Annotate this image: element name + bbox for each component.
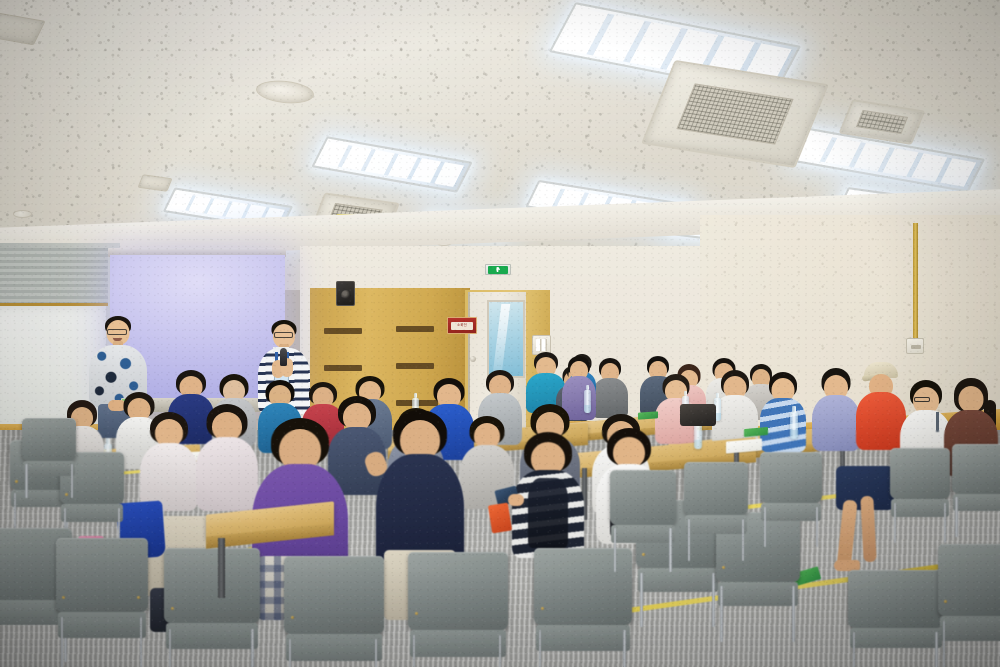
water-bottle	[694, 422, 702, 449]
chair-leg	[169, 629, 171, 667]
chair-leg	[669, 528, 671, 571]
stacking-chair[interactable]	[534, 548, 632, 667]
chair-leg	[894, 503, 896, 543]
chair-back	[610, 470, 676, 525]
chair-seat	[953, 494, 1000, 511]
stacking-chair[interactable]	[22, 418, 76, 492]
torso	[760, 398, 806, 452]
audience-member	[760, 372, 806, 450]
fire-equipment-sign-label: 소화전	[451, 322, 473, 330]
chair-back	[760, 452, 822, 503]
stacking-chair[interactable]	[408, 552, 508, 667]
chair-back	[164, 548, 260, 623]
wood-slat	[324, 365, 362, 371]
chair-leg	[712, 573, 714, 627]
chair-back	[848, 570, 944, 628]
water-bottle	[584, 390, 591, 413]
chair-leg	[955, 497, 957, 537]
chair-back	[284, 556, 384, 634]
chair-leg	[764, 507, 766, 547]
lanyard	[936, 412, 939, 432]
chair-seat	[286, 634, 382, 661]
chair-back	[56, 538, 148, 612]
chair-seat	[940, 616, 1000, 641]
stacking-chair[interactable]	[848, 570, 944, 667]
fire-equipment-sign: 소화전	[447, 317, 477, 334]
window-blind	[0, 248, 108, 306]
ac-grille	[676, 84, 793, 144]
exit-sign-panel	[488, 266, 508, 274]
chair-seat	[761, 503, 821, 521]
torso	[812, 395, 860, 451]
chair-rivet	[137, 596, 140, 599]
handbag	[680, 404, 716, 426]
door-handle[interactable]	[470, 356, 476, 362]
chair-seat	[685, 515, 746, 533]
chair-leg	[61, 617, 63, 667]
torso	[592, 378, 628, 418]
audience-member-with-device	[512, 432, 584, 554]
eyeglasses-icon	[107, 329, 127, 335]
chair-leg	[614, 528, 616, 571]
chair-seat	[536, 625, 630, 651]
torso	[856, 392, 906, 450]
audience-member-with-cap	[856, 362, 906, 446]
exit-sign	[485, 264, 511, 275]
chair-seat	[58, 612, 146, 638]
chair-seat	[891, 499, 949, 517]
chair-leg	[742, 519, 744, 561]
chair-leg	[816, 507, 818, 547]
chair-seat	[718, 582, 799, 606]
stacking-chair[interactable]	[684, 462, 748, 554]
audience-member	[196, 404, 258, 508]
chair-back	[408, 552, 508, 630]
ac-grille	[856, 110, 909, 134]
chair-leg	[251, 629, 253, 667]
wood-slat	[396, 363, 434, 369]
wood-slat	[396, 326, 434, 332]
chair-seat	[61, 504, 122, 522]
chair-leg	[14, 493, 16, 533]
chair-back	[684, 462, 748, 515]
chair-leg	[792, 586, 794, 641]
chair-back	[952, 444, 1000, 494]
chair-seat	[23, 461, 75, 476]
stacking-chair[interactable]	[890, 448, 950, 536]
chair-leg	[623, 630, 625, 667]
chair-leg	[640, 573, 642, 627]
microphone-icon	[280, 348, 287, 366]
chair-leg	[688, 519, 690, 561]
chair-seat	[410, 630, 506, 657]
ceiling-sensor	[13, 210, 32, 218]
chair-seat	[166, 623, 258, 649]
chair-back	[890, 448, 950, 499]
chair-leg	[539, 630, 541, 667]
chair-back	[22, 418, 76, 461]
stacking-chair[interactable]	[610, 470, 676, 564]
eyeglasses-icon	[274, 332, 293, 338]
stacking-chair[interactable]	[164, 548, 260, 667]
chair-seat	[850, 628, 942, 648]
chair-leg	[853, 632, 855, 667]
hand	[508, 494, 524, 506]
chair-leg	[25, 464, 27, 498]
eyeglasses-icon	[914, 397, 930, 402]
electrical-conduit	[913, 223, 918, 341]
speaker-cone-icon	[341, 290, 351, 300]
audience-member	[140, 412, 198, 508]
chair-leg	[943, 621, 945, 667]
chair-leg	[140, 617, 142, 667]
stacking-chair[interactable]	[938, 544, 1000, 667]
chair-leg	[71, 464, 73, 498]
audience-member	[812, 368, 860, 448]
table-leg	[218, 538, 225, 598]
stacking-chair[interactable]	[952, 444, 1000, 530]
chair-rivet	[15, 480, 18, 483]
wood-slat	[324, 328, 362, 334]
chair-seat	[611, 525, 674, 544]
audience-member	[592, 358, 628, 416]
orange-folder	[488, 503, 512, 534]
stacking-chair[interactable]	[56, 538, 148, 666]
wall-outlet[interactable]	[906, 338, 924, 354]
head	[959, 386, 984, 412]
water-bottle	[790, 412, 798, 439]
chair-seat	[638, 568, 719, 592]
torso	[196, 437, 258, 511]
vest-overlay	[528, 478, 568, 548]
stacking-chair[interactable]	[284, 556, 384, 667]
chair-back	[938, 544, 1000, 616]
chair-rivet	[722, 566, 725, 569]
chair-rivet	[171, 607, 174, 610]
seminar-room-photograph: 소화전	[0, 0, 1000, 667]
chair-leg	[720, 586, 722, 641]
stacking-chair[interactable]	[760, 452, 822, 540]
running-man-icon	[496, 267, 500, 272]
